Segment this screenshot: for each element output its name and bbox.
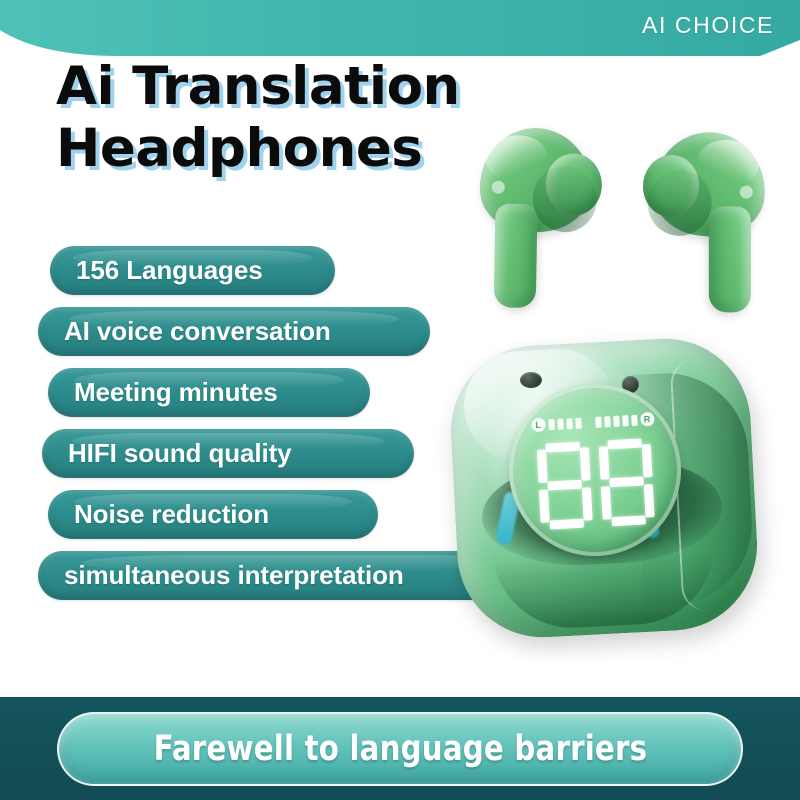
feature-label: AI voice conversation — [64, 316, 331, 347]
header-banner: AI CHOICE — [0, 0, 800, 56]
battery-bar-left-4 — [575, 417, 582, 428]
feature-pill-hifi-sound-quality[interactable]: HIFI sound quality — [42, 429, 414, 478]
battery-bar-left-1 — [548, 419, 555, 430]
seven-segment-digit-ones — [598, 438, 654, 527]
feature-label: Meeting minutes — [74, 377, 278, 408]
battery-bar-left-2 — [557, 418, 564, 429]
product-image: L R — [430, 120, 800, 680]
charging-case: L R — [454, 342, 754, 634]
product-poster: AI CHOICE Ai Translation Headphones 156 … — [0, 0, 800, 800]
charging-case-button-left[interactable] — [520, 372, 542, 388]
tagline-pill[interactable]: Farewell to language barriers — [57, 712, 743, 786]
earbud-right-stem — [709, 206, 751, 312]
battery-bar-right-3 — [613, 415, 620, 426]
battery-bar-left-3 — [566, 418, 573, 429]
seven-segment-digit-tens — [537, 441, 593, 530]
feature-label: simultaneous interpretation — [64, 560, 404, 591]
tagline-text: Farewell to language barriers — [153, 729, 647, 769]
left-channel-badge: L — [531, 418, 546, 433]
battery-bar-right-2 — [604, 416, 611, 427]
battery-bar-right-1 — [595, 416, 602, 427]
earbud-left — [458, 123, 620, 311]
earbud-left-stem — [494, 203, 538, 308]
battery-percentage-digits — [507, 432, 684, 537]
battery-bar-right-4 — [622, 415, 629, 426]
feature-label: Noise reduction — [74, 499, 269, 530]
feature-pill-meeting-minutes[interactable]: Meeting minutes — [48, 368, 370, 417]
battery-indicator-row: L R — [518, 410, 667, 434]
ai-choice-badge: AI CHOICE — [642, 11, 774, 39]
feature-pill-ai-voice-conversation[interactable]: AI voice conversation — [38, 307, 430, 356]
title-line-1: Ai Translation — [56, 56, 576, 118]
feature-pill-noise-reduction[interactable]: Noise reduction — [48, 490, 378, 539]
feature-label: 156 Languages — [76, 255, 263, 286]
footer-banner: Farewell to language barriers — [0, 697, 800, 800]
right-channel-badge: R — [640, 412, 655, 427]
feature-label: HIFI sound quality — [68, 438, 292, 469]
battery-bar-right-5 — [631, 414, 638, 425]
earbud-right — [620, 126, 787, 319]
feature-pill-languages[interactable]: 156 Languages — [50, 246, 335, 295]
